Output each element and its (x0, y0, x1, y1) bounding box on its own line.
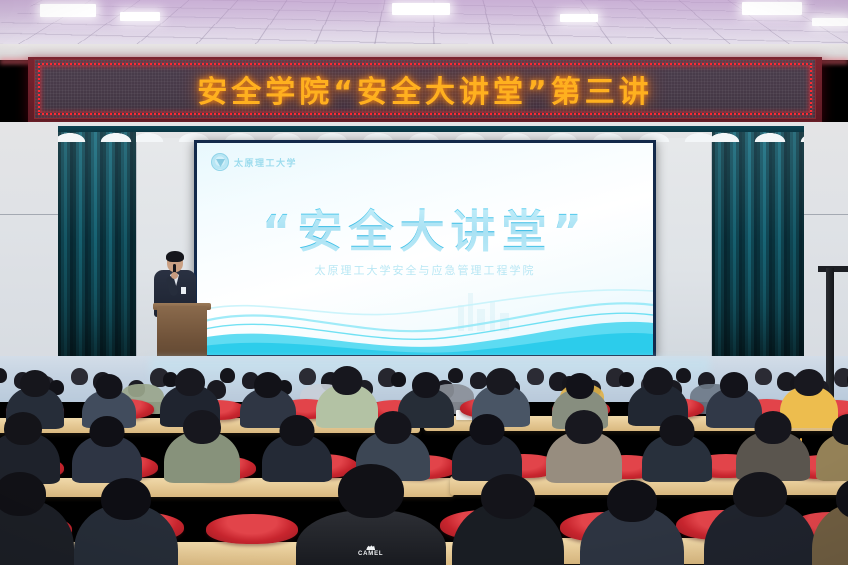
audience-head (565, 410, 603, 444)
curtain-shading (712, 126, 804, 382)
valance-scallop (58, 128, 136, 142)
led-banner-text: 安全学院“安全大讲堂”第三讲 (35, 60, 815, 118)
audience-head (375, 411, 412, 444)
wave-graphic (197, 277, 653, 355)
university-logo-text: 太原理工大学 (234, 156, 297, 169)
university-emblem-icon (211, 153, 229, 171)
stage-back-panel-right (652, 138, 712, 356)
speaker-badge (181, 287, 186, 294)
audience-head (481, 474, 535, 519)
audience-area: CAMEL (0, 366, 848, 565)
ceiling-light (120, 12, 160, 21)
audience-head-distant (299, 368, 316, 385)
auditorium-seat (206, 514, 298, 544)
ceiling-light (392, 3, 450, 15)
ceiling-light (40, 4, 96, 17)
audience-member (580, 480, 684, 565)
audience-member (452, 474, 564, 565)
audience-head (607, 480, 657, 522)
audience-head (101, 478, 151, 520)
valance-scallop (712, 128, 804, 142)
wall-seam (0, 214, 58, 215)
audience-head (720, 372, 748, 398)
audience-head-distant (220, 368, 235, 383)
camel-brand-text: CAMEL (358, 551, 383, 557)
slide-title: “安全大讲堂” (197, 195, 653, 260)
ceiling-light (742, 2, 802, 15)
camel-brand-logo: CAMEL (358, 544, 383, 557)
university-logo: 太原理工大学 (211, 153, 297, 171)
projection-screen-frame: 太原理工大学 “安全大讲堂” 太原理工大学安全与应急管理工程学院 (194, 140, 656, 358)
audience-head (733, 472, 787, 517)
audience-head (254, 372, 282, 398)
audience-member (74, 478, 178, 565)
lecture-hall-scene: 安全学院“安全大讲堂”第三讲 太原理工大学 “安全大讲堂” (0, 0, 848, 565)
audience-member (0, 472, 74, 565)
audience-head (412, 372, 440, 398)
led-banner-panel: 安全学院“安全大讲堂”第三讲 (34, 59, 816, 119)
slide-subtitle: 太原理工大学安全与应急管理工程学院 (197, 262, 653, 278)
ceiling-light (812, 18, 848, 26)
curtain-shading (58, 126, 136, 382)
audience-head (470, 414, 505, 445)
audience-head (4, 412, 42, 445)
audience-head (794, 369, 824, 396)
curtain-valance-left (58, 126, 136, 142)
camel-mark-icon (366, 544, 375, 550)
speaker-hair (166, 251, 184, 262)
speaker-hand (171, 272, 178, 279)
audience-head (332, 366, 363, 395)
audience-head (175, 368, 205, 396)
projection-screen: 太原理工大学 “安全大讲堂” 太原理工大学安全与应急管理工程学院 (197, 143, 653, 355)
audience-head (96, 374, 123, 399)
audience-head (486, 368, 516, 395)
audience-member-camel: CAMEL (296, 484, 446, 565)
ceiling-light (560, 14, 598, 22)
wall-seam (804, 214, 848, 215)
stage-curtain-left (58, 126, 136, 382)
stage-curtain-right (712, 126, 804, 382)
audience-head (90, 416, 125, 447)
audience-member (812, 478, 848, 565)
audience-member (262, 415, 332, 494)
audience-head (660, 415, 695, 446)
audience-head (755, 411, 792, 444)
audience-head (280, 415, 315, 446)
audience-head (643, 367, 673, 395)
ceiling (0, 0, 848, 46)
audience-member (704, 472, 816, 565)
audience-head (0, 472, 46, 516)
audience-head (183, 410, 221, 444)
audience-head (566, 373, 594, 399)
audience-head (338, 464, 404, 518)
audience-head (20, 370, 50, 397)
curtain-valance-right (712, 126, 804, 142)
